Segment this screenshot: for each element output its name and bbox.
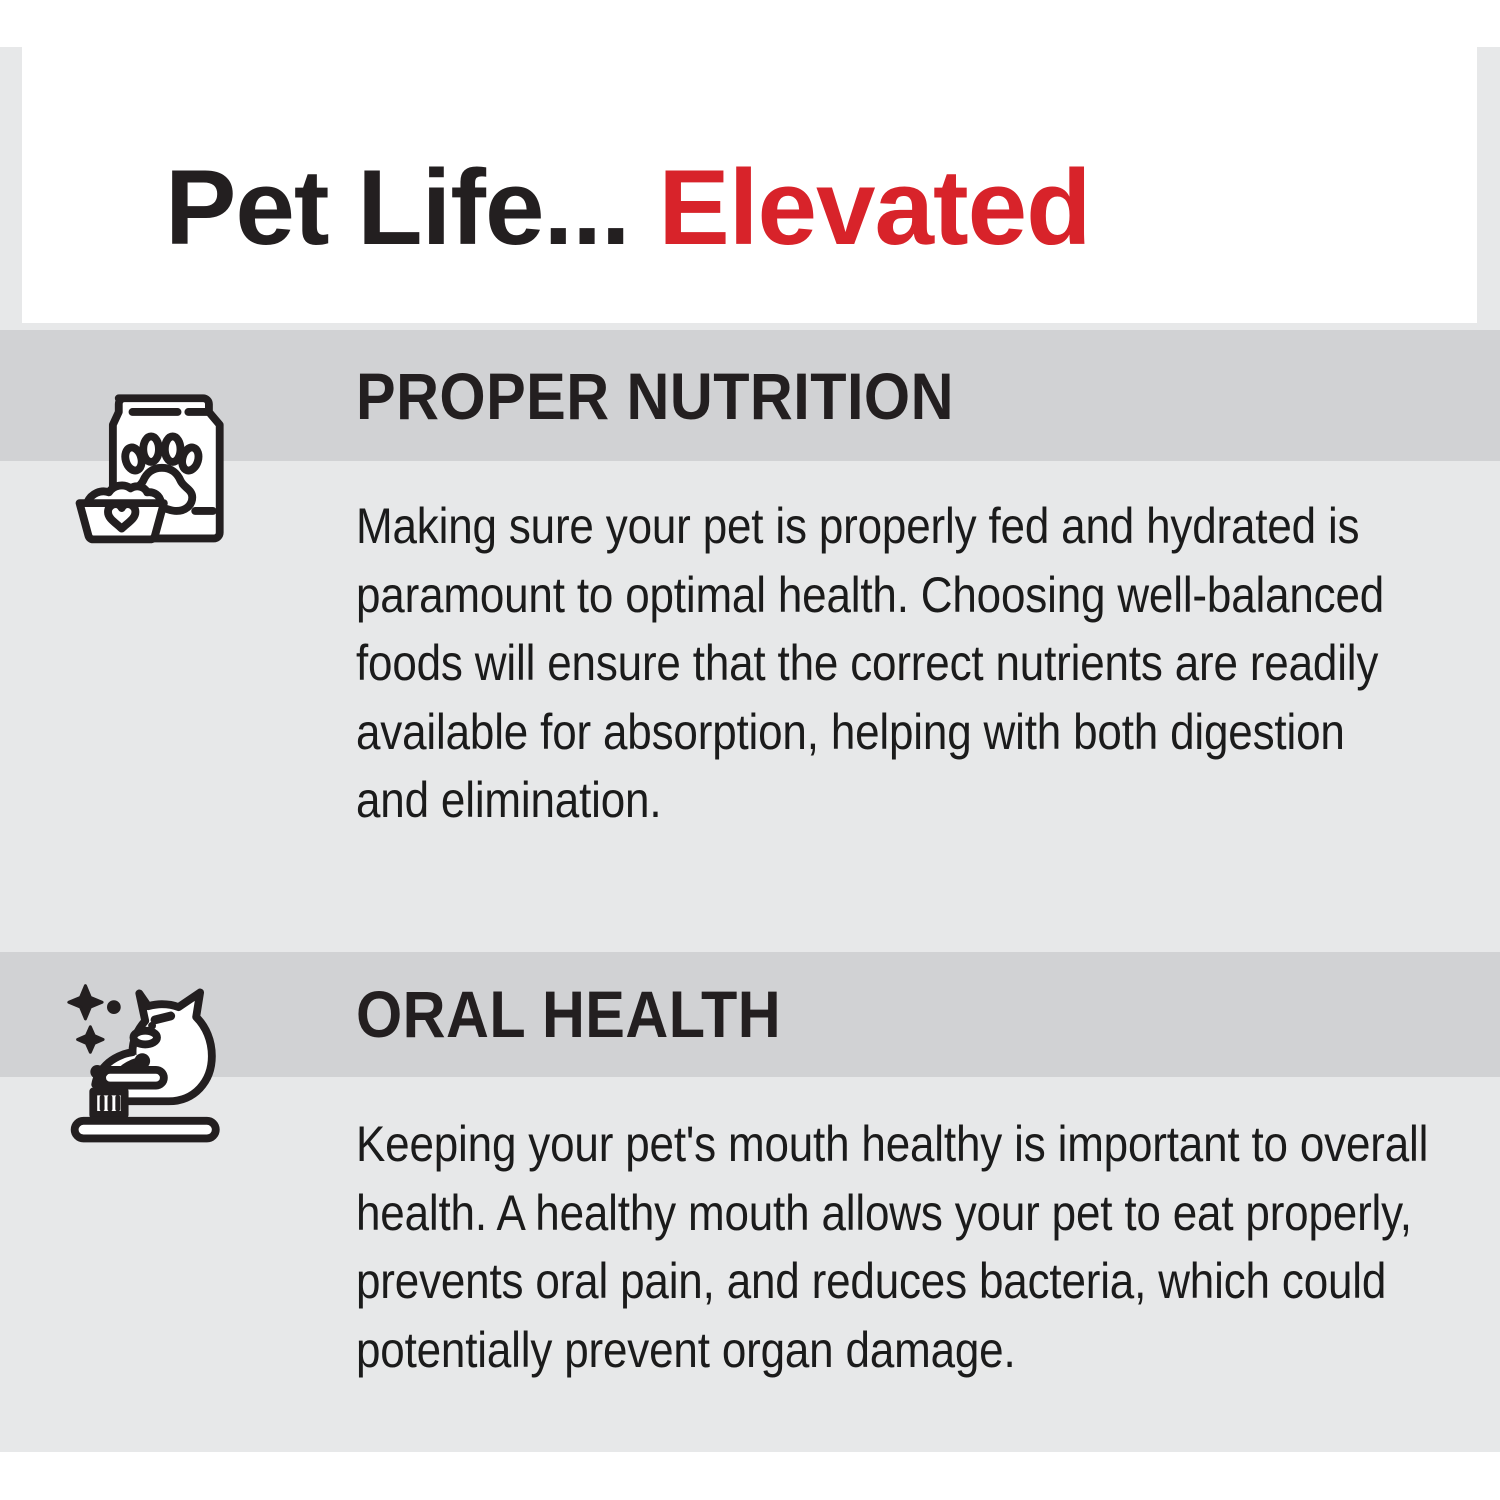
bottom-white-margin <box>0 1452 1500 1500</box>
pet-food-bag-and-bowl-icon <box>58 362 254 558</box>
dog-toothbrush-icon <box>58 966 254 1162</box>
section-title-oral-health: ORAL HEALTH <box>356 978 781 1050</box>
brand-title-accent: Elevated <box>658 147 1090 267</box>
brand-title-primary: Pet Life... <box>165 147 630 267</box>
section-body-oral-health: Keeping your pet's mouth healthy is impo… <box>356 1110 1438 1384</box>
brand-header-card: Pet Life... Elevated <box>22 47 1477 323</box>
section-body-proper-nutrition: Making sure your pet is properly fed and… <box>356 492 1394 835</box>
section-title-proper-nutrition: PROPER NUTRITION <box>356 360 954 432</box>
section-proper-nutrition: PROPER NUTRITION Making sure your pet is… <box>0 330 1500 952</box>
brand-title: Pet Life... Elevated <box>165 151 1091 263</box>
infographic-page: Pet Life... Elevated <box>0 0 1500 1500</box>
section-oral-health: ORAL HEALTH Keeping your pet's mouth hea… <box>0 952 1500 1452</box>
top-white-margin <box>0 0 1500 47</box>
